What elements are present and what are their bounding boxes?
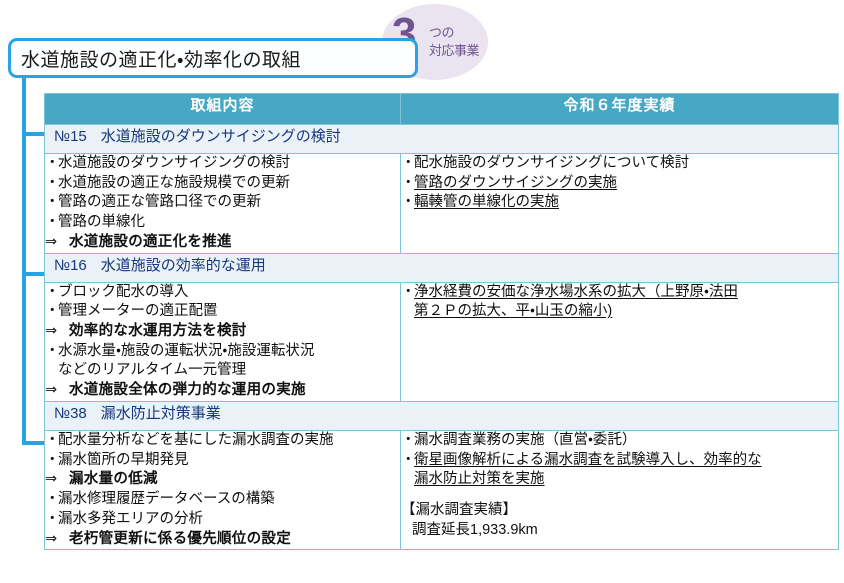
column-header-initiative: 取組内容 bbox=[45, 94, 401, 125]
section-header-row-2: №16水道施設の効率的な運用 bbox=[45, 253, 839, 282]
list-item: ・管理メーターの適正配置 bbox=[45, 302, 400, 322]
underlined-text: 衛星画像解析による漏水調査を試験導入し、効率的な bbox=[414, 452, 762, 468]
section-header-cell: №15水道施設のダウンサイジングの検討 bbox=[45, 125, 839, 154]
initiatives-table: 取組内容 令和６年度実績 №15水道施設のダウンサイジングの検討・水道施設のダウ… bbox=[44, 93, 839, 550]
item-text: 漏水調査業務の実施（直営・委託） bbox=[414, 432, 636, 448]
section-title: 水道施設のダウンサイジングの検討 bbox=[101, 128, 341, 145]
item-text: 【漏水調査実績】 bbox=[401, 502, 517, 518]
section-header-cell: №38漏水防止対策事業 bbox=[45, 401, 839, 430]
item-text: 漏水量の低減 bbox=[69, 471, 158, 487]
conclusion-item: ⇒老朽管更新に係る優先順位の設定 bbox=[45, 530, 400, 550]
list-item: ・水道施設のダウンサイジングの検討 bbox=[45, 154, 400, 174]
section-title: 水道施設の効率的な運用 bbox=[101, 257, 266, 274]
item-text: 管理メーターの適正配置 bbox=[58, 303, 218, 319]
list-item-continuation: などのリアルタイム一元管理 bbox=[45, 361, 400, 381]
item-text: 水道施設のダウンサイジングの検討 bbox=[58, 155, 290, 171]
results-cell: ・配水施設のダウンサイジングについて検討・管路のダウンサイジングの実施・輻輳管の… bbox=[401, 154, 839, 254]
underlined-text: 第２Ｐの拡大、平・山玉の縮小) bbox=[414, 303, 612, 319]
conclusion-item: ⇒効率的な水運用方法を検討 bbox=[45, 322, 400, 342]
item-text: 効率的な水運用方法を検討 bbox=[69, 323, 247, 339]
section-number: №38 bbox=[54, 405, 87, 422]
item-text: 配水量分析などを基にした漏水調査の実施 bbox=[58, 432, 334, 448]
initiative-cell: ・水道施設のダウンサイジングの検討・水道施設の適正な施設規模での更新・管路の適正… bbox=[45, 154, 401, 254]
bullet-icon: ・ bbox=[45, 490, 58, 510]
section-title: 漏水防止対策事業 bbox=[101, 405, 221, 422]
section-number: №15 bbox=[54, 128, 87, 145]
list-item: ・輻輳管の単線化の実施 bbox=[401, 193, 838, 213]
column-header-results: 令和６年度実績 bbox=[401, 94, 839, 125]
underlined-text: 漏水防止対策を実施 bbox=[414, 471, 545, 487]
item-text: 漏水多発エリアの分析 bbox=[58, 511, 203, 527]
connector-branch-section-2 bbox=[22, 272, 46, 276]
table-head: 取組内容 令和６年度実績 bbox=[45, 94, 839, 125]
conclusion-item: ⇒漏水量の低減 bbox=[45, 470, 400, 490]
list-spacer bbox=[401, 490, 838, 501]
item-text: 配水施設のダウンサイジングについて検討 bbox=[414, 155, 689, 171]
underlined-text: 輻輳管の単線化の実施 bbox=[414, 194, 559, 210]
arrow-icon: ⇒ bbox=[45, 470, 58, 490]
section-header-cell: №16水道施設の効率的な運用 bbox=[45, 253, 839, 282]
list-item: ・漏水調査業務の実施（直営・委託） bbox=[401, 431, 838, 451]
item-text: 管路の単線化 bbox=[58, 214, 145, 230]
item-text: などのリアルタイム一元管理 bbox=[58, 362, 246, 378]
list-item: ・水道施設の適正な施設規模での更新 bbox=[45, 174, 400, 194]
bullet-icon: ・ bbox=[45, 431, 58, 451]
item-text: 水源水量・施設の運転状況・施設運転状況 bbox=[58, 343, 314, 359]
bullet-icon: ・ bbox=[401, 283, 414, 303]
table-header-row: 取組内容 令和６年度実績 bbox=[45, 94, 839, 125]
badge-line-2: 対応事業 bbox=[429, 40, 479, 59]
results-cell: ・浄水経費の安価な浄水場水系の拡大（上野原・法田第２Ｐの拡大、平・山玉の縮小) bbox=[401, 282, 839, 401]
connector-branch-section-1 bbox=[22, 132, 46, 136]
arrow-icon: ⇒ bbox=[45, 233, 58, 253]
bullet-icon: ・ bbox=[45, 213, 58, 233]
initiative-cell: ・ブロック配水の導入・管理メーターの適正配置⇒効率的な水運用方法を検討・水源水量… bbox=[45, 282, 401, 401]
bullet-icon: ・ bbox=[401, 193, 414, 213]
section-content-row-2: ・ブロック配水の導入・管理メーターの適正配置⇒効率的な水運用方法を検討・水源水量… bbox=[45, 282, 839, 401]
item-text: ブロック配水の導入 bbox=[58, 284, 189, 300]
bullet-icon: ・ bbox=[401, 174, 414, 194]
section-label: №15水道施設のダウンサイジングの検討 bbox=[45, 125, 838, 146]
section-label: №38漏水防止対策事業 bbox=[45, 402, 838, 423]
bullet-icon: ・ bbox=[45, 451, 58, 471]
list-item: ・管路の単線化 bbox=[45, 213, 400, 233]
list-item: ・配水施設のダウンサイジングについて検討 bbox=[401, 154, 838, 174]
list-item: ・漏水多発エリアの分析 bbox=[45, 510, 400, 530]
section-header-row-3: №38漏水防止対策事業 bbox=[45, 401, 839, 430]
list-item: ・管路のダウンサイジングの実施 bbox=[401, 174, 838, 194]
item-text: 漏水箇所の早期発見 bbox=[58, 452, 189, 468]
list-item: ・管路の適正な管路口径での更新 bbox=[45, 193, 400, 213]
arrow-icon: ⇒ bbox=[45, 381, 58, 401]
bullet-icon: ・ bbox=[45, 193, 58, 213]
section-content-row-3: ・配水量分析などを基にした漏水調査の実施・漏水箇所の早期発見⇒漏水量の低減・漏水… bbox=[45, 430, 839, 549]
item-text: 老朽管更新に係る優先順位の設定 bbox=[69, 531, 291, 547]
list-item: ・漏水修理履歴データベースの構築 bbox=[45, 490, 400, 510]
result-value: 調査延長1,933.9km bbox=[401, 521, 838, 541]
list-item: ・漏水箇所の早期発見 bbox=[45, 451, 400, 471]
connector-branch-section-3 bbox=[22, 441, 46, 445]
item-text: 水道施設の適正化を推進 bbox=[69, 234, 232, 250]
arrow-icon: ⇒ bbox=[45, 322, 58, 342]
list-item: ・配水量分析などを基にした漏水調査の実施 bbox=[45, 431, 400, 451]
results-cell: ・漏水調査業務の実施（直営・委託）・衛星画像解析による漏水調査を試験導入し、効率… bbox=[401, 430, 839, 549]
list-item: ・衛星画像解析による漏水調査を試験導入し、効率的な bbox=[401, 451, 838, 471]
conclusion-item: ⇒水道施設の適正化を推進 bbox=[45, 233, 400, 253]
arrow-icon: ⇒ bbox=[45, 530, 58, 550]
list-item: ・浄水経費の安価な浄水場水系の拡大（上野原・法田 bbox=[401, 283, 838, 303]
section-content-row-1: ・水道施設のダウンサイジングの検討・水道施設の適正な施設規模での更新・管路の適正… bbox=[45, 154, 839, 254]
bullet-icon: ・ bbox=[45, 174, 58, 194]
initiative-cell: ・配水量分析などを基にした漏水調査の実施・漏水箇所の早期発見⇒漏水量の低減・漏水… bbox=[45, 430, 401, 549]
bullet-icon: ・ bbox=[45, 154, 58, 174]
result-label: 【漏水調査実績】 bbox=[401, 501, 838, 521]
bullet-icon: ・ bbox=[401, 154, 414, 174]
bullet-icon: ・ bbox=[45, 283, 58, 303]
conclusion-item: ⇒水道施設全体の弾力的な運用の実施 bbox=[45, 381, 400, 401]
list-item: ・ブロック配水の導入 bbox=[45, 283, 400, 303]
list-item-continuation: 漏水防止対策を実施 bbox=[401, 470, 838, 490]
item-text: 漏水修理履歴データベースの構築 bbox=[58, 491, 275, 507]
item-text: 管路の適正な管路口径での更新 bbox=[58, 194, 261, 210]
bullet-icon: ・ bbox=[401, 431, 414, 451]
section-number: №16 bbox=[54, 257, 87, 274]
badge-line-1: つの bbox=[429, 22, 454, 41]
item-text: 調査延長1,933.9km bbox=[412, 522, 538, 538]
list-item-continuation: 第２Ｐの拡大、平・山玉の縮小) bbox=[401, 302, 838, 322]
section-label: №16水道施設の効率的な運用 bbox=[45, 254, 838, 275]
underlined-text: 浄水経費の安価な浄水場水系の拡大（上野原・法田 bbox=[414, 284, 738, 300]
item-text: 水道施設全体の弾力的な運用の実施 bbox=[69, 382, 306, 398]
page-title: 水道施設の適正化・効率化の取組 bbox=[11, 45, 301, 72]
underlined-text: 管路のダウンサイジングの実施 bbox=[414, 175, 617, 191]
table-body: №15水道施設のダウンサイジングの検討・水道施設のダウンサイジングの検討・水道施… bbox=[45, 125, 839, 550]
section-header-row-1: №15水道施設のダウンサイジングの検討 bbox=[45, 125, 839, 154]
bullet-icon: ・ bbox=[401, 451, 414, 471]
list-item: ・水源水量・施設の運転状況・施設運転状況 bbox=[45, 342, 400, 362]
bullet-icon: ・ bbox=[45, 510, 58, 530]
item-text: 水道施設の適正な施設規模での更新 bbox=[58, 175, 290, 191]
bullet-icon: ・ bbox=[45, 302, 58, 322]
page-title-box: 水道施設の適正化・効率化の取組 bbox=[8, 38, 418, 78]
bullet-icon: ・ bbox=[45, 342, 58, 362]
